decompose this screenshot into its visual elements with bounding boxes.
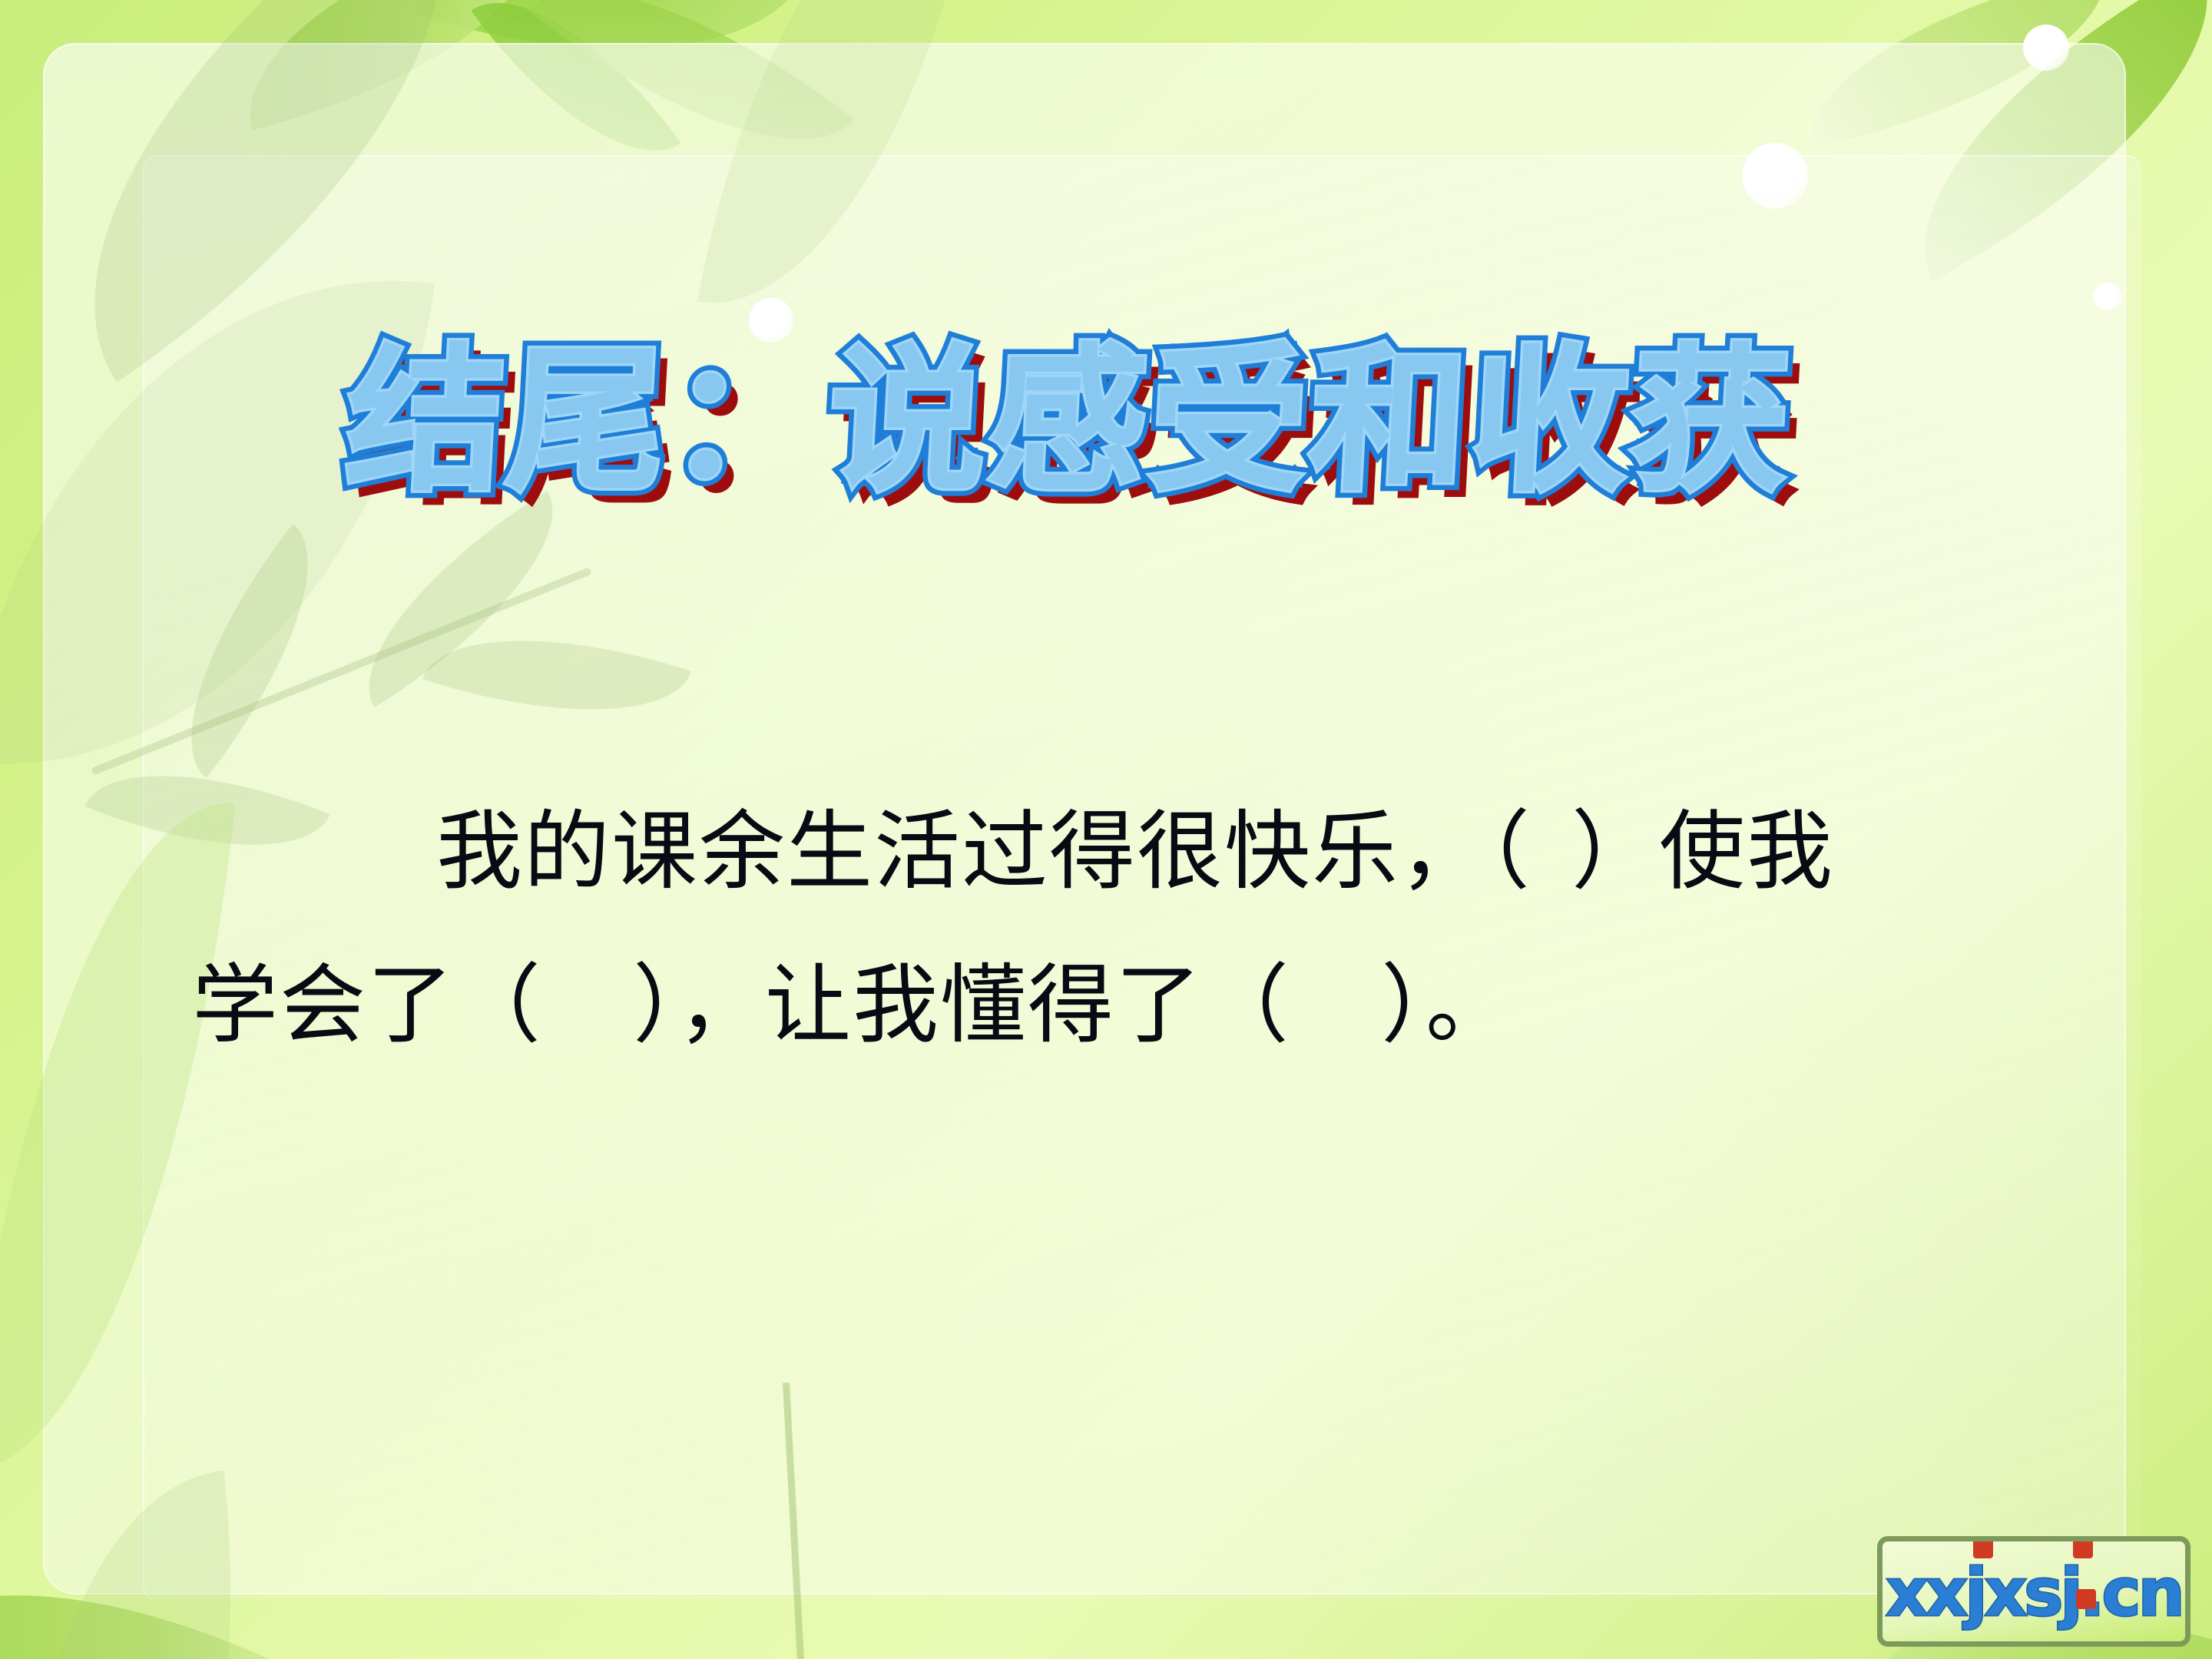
site-watermark-text: xxjxsj.cn xyxy=(1886,1560,2181,1626)
slide-body-text: 我的课余生活过得很快乐，（）使我学会了（），让我懂得了（）。 xyxy=(192,776,2020,1083)
logo-dot-icon xyxy=(1973,1538,1993,1558)
body-line2-c: ）。 xyxy=(1381,959,1513,1054)
logo-dot-icon xyxy=(2076,1589,2096,1609)
faint-leaf-icon xyxy=(0,1471,282,1659)
faint-leaf-icon xyxy=(697,0,977,336)
slide-canvas: 结尾：说感受和收获 结尾：说感受和收获 结尾：说感受和收获 我的课余生活过得很快… xyxy=(0,0,2212,1659)
site-watermark-logo: xxjxsj.cn xyxy=(1877,1536,2190,1647)
body-line2-a: 学会了（ xyxy=(192,959,542,1054)
logo-dot-icon xyxy=(2073,1538,2093,1558)
body-line1-suffix: ）使我 xyxy=(1571,805,1834,900)
branch-stem-icon xyxy=(783,1382,806,1659)
body-line1-prefix: 我的课余生活过得很快乐，（ xyxy=(436,805,1532,900)
body-line2-b: ），让我懂得了（ xyxy=(633,959,1290,1054)
